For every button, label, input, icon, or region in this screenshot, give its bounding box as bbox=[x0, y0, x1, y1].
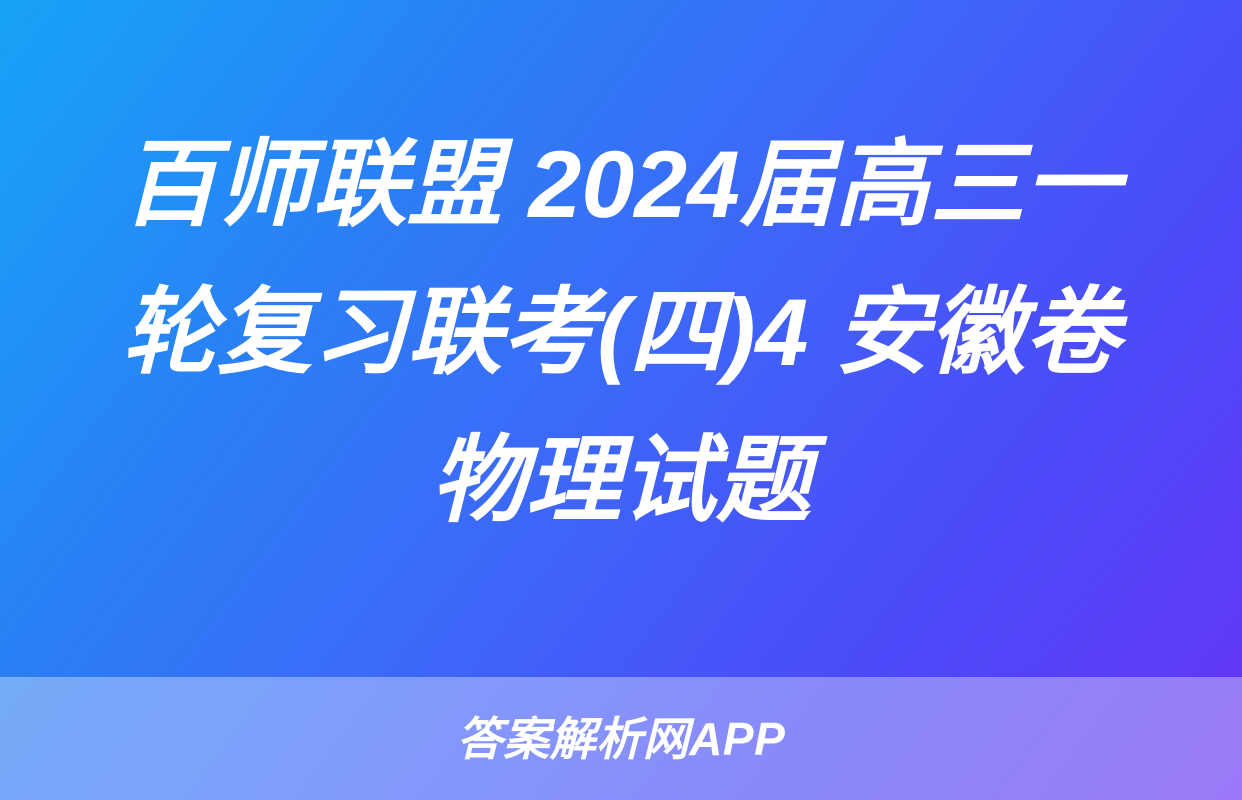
watermark-text: 答案解析网APP bbox=[457, 716, 786, 762]
title-line-3: 物理试题 bbox=[60, 407, 1182, 555]
watermark-band: 答案解析网APP bbox=[0, 677, 1242, 800]
poster-canvas: 百师联盟 2024届高三一 轮复习联考(四)4 安徽卷 物理试题 答案解析网AP… bbox=[0, 0, 1242, 800]
title-line-1: 百师联盟 2024届高三一 bbox=[60, 111, 1182, 259]
title-line-2: 轮复习联考(四)4 安徽卷 bbox=[60, 259, 1182, 407]
title-block: 百师联盟 2024届高三一 轮复习联考(四)4 安徽卷 物理试题 bbox=[0, 0, 1242, 677]
